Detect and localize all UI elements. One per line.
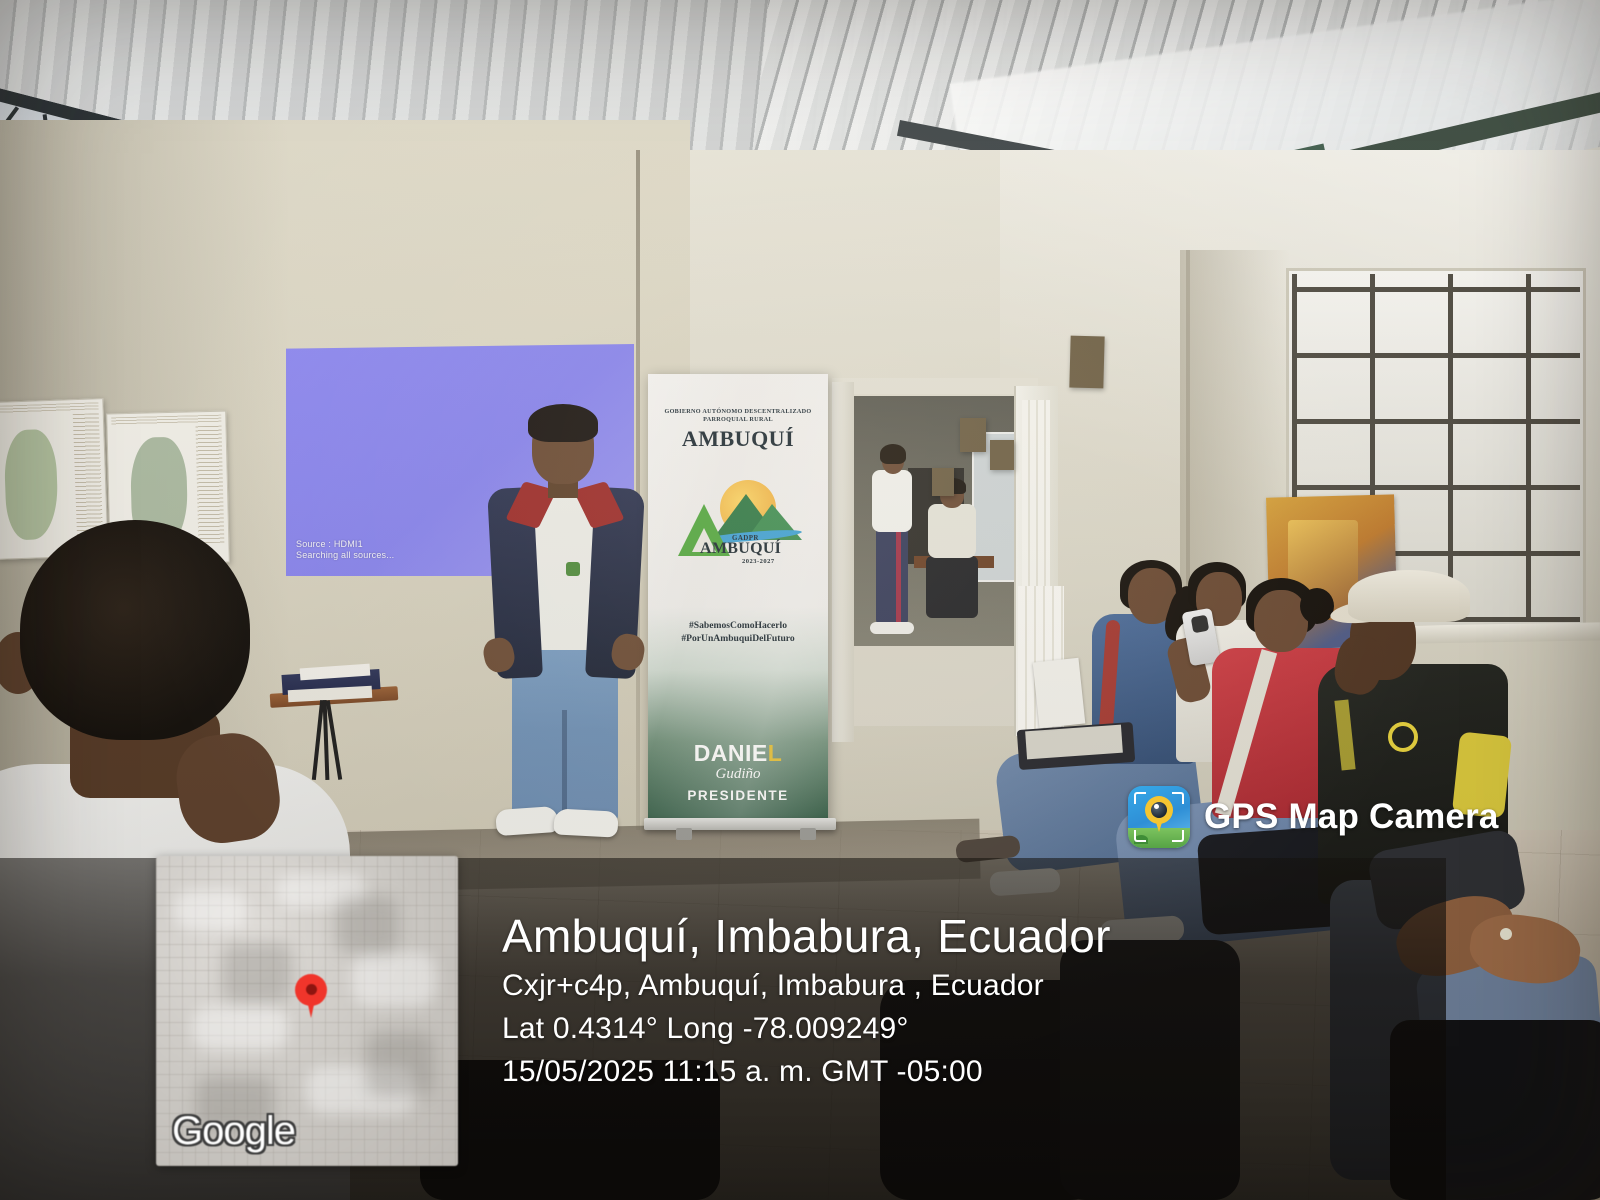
baseball-cap: [1348, 570, 1470, 622]
door-frame-top: [832, 378, 1038, 394]
banner-foot: [676, 828, 692, 840]
map-thumbnail[interactable]: Google: [156, 856, 458, 1166]
banner-foot: [800, 828, 816, 840]
banner-hashtag-2: #PorUnAmbuquiDelFuturo: [648, 633, 828, 644]
banner-eyebrow-line1: GOBIERNO AUTÓNOMO DESCENTRALIZADO: [648, 408, 828, 415]
banner-title: AMBUQUÍ: [648, 426, 828, 452]
banner-candidate-surname: Gudiño: [648, 766, 828, 783]
logo-wordmark: AMBUQUÍ: [700, 540, 781, 558]
handout-paper: [1033, 658, 1086, 728]
banner-candidate-name: DANIEL: [648, 740, 828, 767]
location-address: Cxjr+c4p, Ambuquí, Imbabura , Ecuador: [502, 964, 1402, 1007]
ring: [1500, 928, 1512, 940]
presenter-shoe: [495, 806, 559, 836]
banner-candidate-role: PRESIDENTE: [648, 788, 828, 803]
phone-camera-lens: [1191, 615, 1210, 634]
location-coordinates: Lat 0.4314° Long -78.009249°: [502, 1007, 1402, 1050]
ambuqui-logo: GADPR AMBUQUÍ 2023-2027: [672, 478, 804, 570]
gps-text-block: Ambuquí, Imbabura, Ecuador Cxjr+c4p, Amb…: [502, 908, 1402, 1093]
location-title: Ambuquí, Imbabura, Ecuador: [502, 908, 1402, 964]
gps-map-camera-badge: GPS Map Camera: [1128, 786, 1499, 848]
polo-logo: [566, 562, 580, 576]
candidate-name-accent: L: [768, 740, 783, 766]
map-pin-icon: [295, 974, 327, 1018]
google-attribution: Google: [172, 1109, 295, 1154]
wall-picture: [990, 440, 1014, 470]
candidate-name-part: DANIE: [694, 740, 768, 766]
door-frame-left: [832, 382, 854, 742]
rollup-banner: GOBIERNO AUTÓNOMO DESCENTRALIZADO PARROQ…: [648, 374, 828, 822]
wall-picture: [1069, 336, 1104, 389]
wall-picture: [960, 418, 986, 452]
wall-picture: [932, 468, 954, 496]
jacket-emblem: [1388, 722, 1418, 752]
banner-hashtag-1: #SabemosComoHacerlo: [648, 620, 828, 631]
capture-datetime: 15/05/2025 11:15 a. m. GMT -05:00: [502, 1050, 1402, 1093]
photo-canvas: Source : HDMI1 Searching all sources...: [0, 0, 1600, 1200]
gps-map-camera-label: GPS Map Camera: [1204, 797, 1499, 837]
banner-eyebrow-line2: PARROQUIAL RURAL: [648, 416, 828, 423]
presenter-shoe: [553, 808, 618, 837]
gps-map-camera-icon: [1128, 786, 1190, 848]
presenter-person: [470, 410, 660, 850]
logo-term-years: 2023-2027: [742, 558, 775, 565]
